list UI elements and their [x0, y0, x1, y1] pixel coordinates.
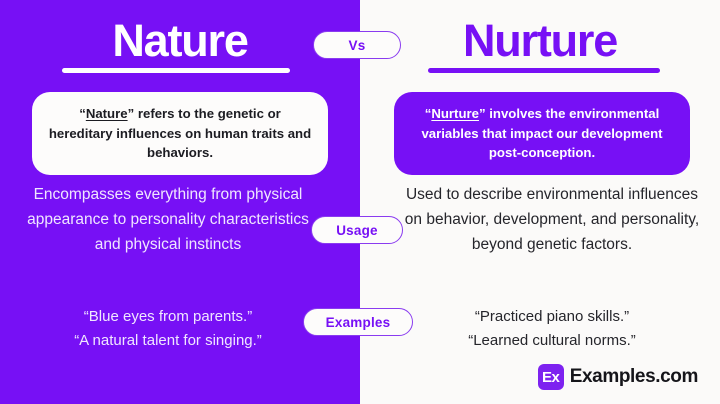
- nature-usage-text: Encompasses everything from physical app…: [20, 182, 316, 257]
- nurture-heading: Nurture: [360, 14, 720, 68]
- badge-examples: Examples: [303, 308, 413, 336]
- examples-logo-text: Examples.com: [570, 366, 698, 388]
- nature-heading: Nature: [0, 14, 360, 68]
- examples-logo-mark: Ex: [538, 364, 564, 390]
- nurture-definition-card: “Nurture” involves the environmental var…: [394, 92, 690, 175]
- nature-heading-underline: [62, 68, 290, 73]
- badge-vs: Vs: [313, 31, 401, 59]
- nature-term: Nature: [86, 106, 128, 121]
- nurture-heading-underline: [428, 68, 660, 73]
- nature-definition-card: “Nature” refers to the genetic or heredi…: [32, 92, 328, 175]
- infographic-canvas: Nature Nurture “Nature” refers to the ge…: [0, 0, 720, 404]
- nurture-examples-text: “Practiced piano skills.”“Learned cultur…: [404, 305, 700, 353]
- nurture-term: Nurture: [431, 106, 479, 121]
- nurture-usage-text: Used to describe environmental influence…: [404, 182, 700, 257]
- examples-logo: Ex Examples.com: [538, 364, 698, 390]
- nature-examples-text: “Blue eyes from parents.”“A natural tale…: [20, 305, 316, 353]
- badge-usage: Usage: [311, 216, 403, 244]
- nature-quote-open: “: [79, 106, 86, 121]
